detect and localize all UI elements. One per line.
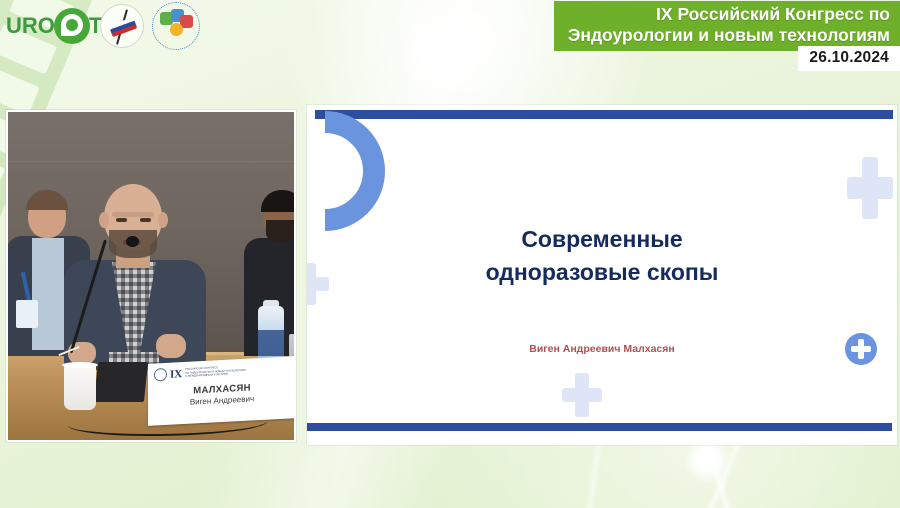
congress-title-line-1: IX Российский Конгресс по: [568, 4, 890, 25]
nameplate-emblem-icon: [154, 368, 167, 382]
slide-title-line-1: Современные: [307, 223, 897, 256]
speaker-video-panel[interactable]: IX РОССИЙСКИЙ КОНГРЕСС ПО ЭНДОУРОЛОГИИ И…: [6, 110, 296, 442]
slide-title: Современные одноразовые скопы: [307, 223, 897, 289]
right-attendee-beard: [266, 220, 294, 242]
russian-flag-shape: [109, 17, 138, 37]
speaker-nameplate: IX РОССИЙСКИЙ КОНГРЕСС ПО ЭНДОУРОЛОГИИ И…: [148, 356, 294, 426]
slide-top-accent-bar: [315, 110, 893, 119]
nameplate-subtitle: РОССИЙСКИЙ КОНГРЕСС ПО ЭНДОУРОЛОГИИ И НО…: [185, 363, 290, 379]
congress-title-banner: IX Российский Конгресс по Эндоурологии и…: [554, 1, 900, 51]
speaker-eye-left: [116, 218, 127, 222]
urotv-leaf-icon: [54, 8, 90, 44]
congress-title-line-2: Эндоурологии и новым технологиям: [568, 25, 890, 46]
speaker-eye-right: [140, 218, 151, 222]
laptop-device: [94, 362, 148, 402]
nameplate-subtitle-line-3: С МЕЖДУНАРОДНЫМ УЧАСТИЕМ: [185, 373, 228, 378]
slide-cross-bottom-icon: [562, 373, 602, 417]
nameplate-roman-numeral: IX: [170, 368, 182, 381]
speaker-brow: [112, 212, 154, 217]
speaker-ear-left: [99, 212, 109, 228]
nameplate-header: IX РОССИЙСКИЙ КОНГРЕСС ПО ЭНДОУРОЛОГИИ И…: [154, 361, 290, 381]
speaker-ear-right: [158, 212, 168, 228]
paper-cup-rim: [62, 362, 98, 368]
russian-flag-pin-icon: [100, 4, 144, 48]
speaker-video-frame: IX РОССИЙСКИЙ КОНГРЕСС ПО ЭНДОУРОЛОГИИ И…: [8, 112, 294, 440]
speaker-hand-right: [156, 334, 186, 358]
slide-cross-right-icon: [847, 157, 893, 219]
puzzle-piece-yellow: [170, 23, 183, 36]
header-bar: URO TV IX Российский Конгресс по Эндоуро…: [0, 0, 900, 100]
slide-arc-shape: [307, 111, 385, 231]
slide-title-line-2: одноразовые скопы: [307, 256, 897, 289]
date-badge: 26.10.2024: [798, 46, 900, 71]
microphone-icon: [126, 236, 139, 247]
slide-author: Виген Андреевич Малхасян: [307, 343, 897, 355]
slide-bottom-accent-bar: [307, 423, 892, 431]
left-attendee-badge: [16, 300, 38, 328]
paper-cup: [64, 364, 96, 410]
left-attendee-shirt: [32, 238, 64, 350]
urotv-logo-prefix: URO: [6, 13, 55, 39]
water-bottle-label: [258, 330, 284, 356]
presentation-slide-panel[interactable]: Современные одноразовые скопы Виген Андр…: [307, 105, 897, 445]
congress-puzzle-icon: [152, 2, 200, 50]
